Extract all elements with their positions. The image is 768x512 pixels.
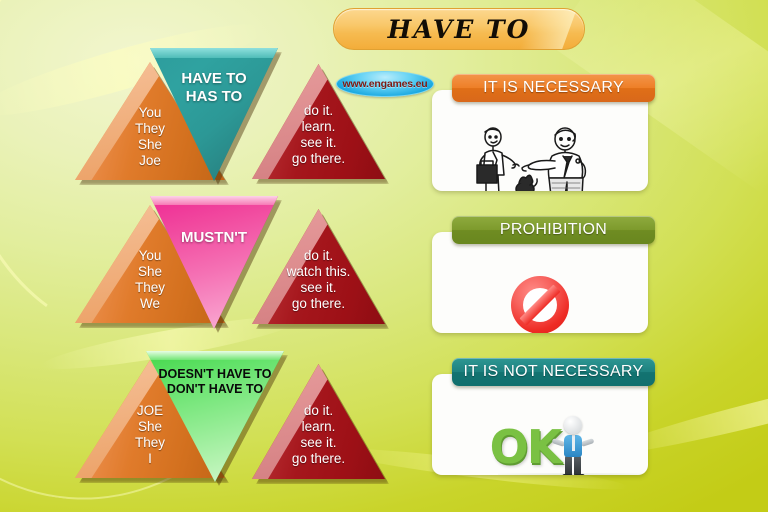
figure-left-leg	[565, 456, 572, 476]
panel-card: OK	[432, 374, 648, 475]
triangle-body	[252, 209, 385, 324]
row-2-panel-header-label: PROHIBITION	[500, 221, 607, 239]
panel-card	[432, 232, 648, 333]
ok-label: OK	[490, 424, 561, 470]
panel-illustration-prohibition	[432, 260, 648, 333]
triangle-top-edge	[146, 351, 284, 360]
triangle-highlight-edge	[252, 364, 385, 479]
row-2-panel: PROHIBITION	[432, 216, 648, 333]
panel-illustration-not-necessary: OK	[432, 402, 648, 475]
no-entry-icon	[511, 276, 569, 334]
figure-right-foot	[574, 474, 585, 476]
row-1-object-triangle: do it.learn.see it.go there.	[252, 64, 385, 179]
row-1-panel-header: IT IS NECESSARY	[452, 74, 655, 102]
figure-left-foot	[562, 474, 573, 476]
triangle-highlight-edge	[252, 64, 385, 179]
ok-graphic: OK	[490, 416, 591, 476]
panel-illustration-necessary	[432, 118, 648, 191]
3d-person-icon	[556, 416, 590, 476]
figure-right-leg	[574, 456, 581, 476]
boss-pointing-icon	[445, 123, 635, 192]
triangle-top-edge	[150, 48, 278, 58]
row-3-panel-header-label: IT IS NOT NECESSARY	[464, 363, 644, 381]
figure-shirt-front	[572, 435, 575, 451]
row-1-panel: IT IS NECESSARY	[432, 74, 648, 191]
row-3-object-triangle: do it.learn.see it.go there.	[252, 364, 385, 479]
row-2-object-triangle: do it.watch this.see it.go there.	[252, 209, 385, 324]
triangle-top-edge	[150, 196, 278, 205]
triangle-body	[252, 364, 385, 479]
row-3-panel: OK IT IS NOT NECESSARY	[432, 358, 648, 475]
row-2-panel-header: PROHIBITION	[452, 216, 655, 244]
figure-right-arm	[581, 438, 595, 447]
triangle-body	[252, 64, 385, 179]
figure-head	[564, 416, 582, 434]
row-3-panel-header: IT IS NOT NECESSARY	[452, 358, 655, 386]
panel-card	[432, 90, 648, 191]
page-title-pill: HAVE TO	[333, 8, 585, 50]
infographic-canvas: HAVE TO www.engames.eu YouTheySheJoe HAV…	[0, 0, 768, 512]
triangle-highlight-edge	[252, 209, 385, 324]
row-1-panel-header-label: IT IS NECESSARY	[483, 79, 624, 97]
page-title: HAVE TO	[388, 15, 531, 44]
